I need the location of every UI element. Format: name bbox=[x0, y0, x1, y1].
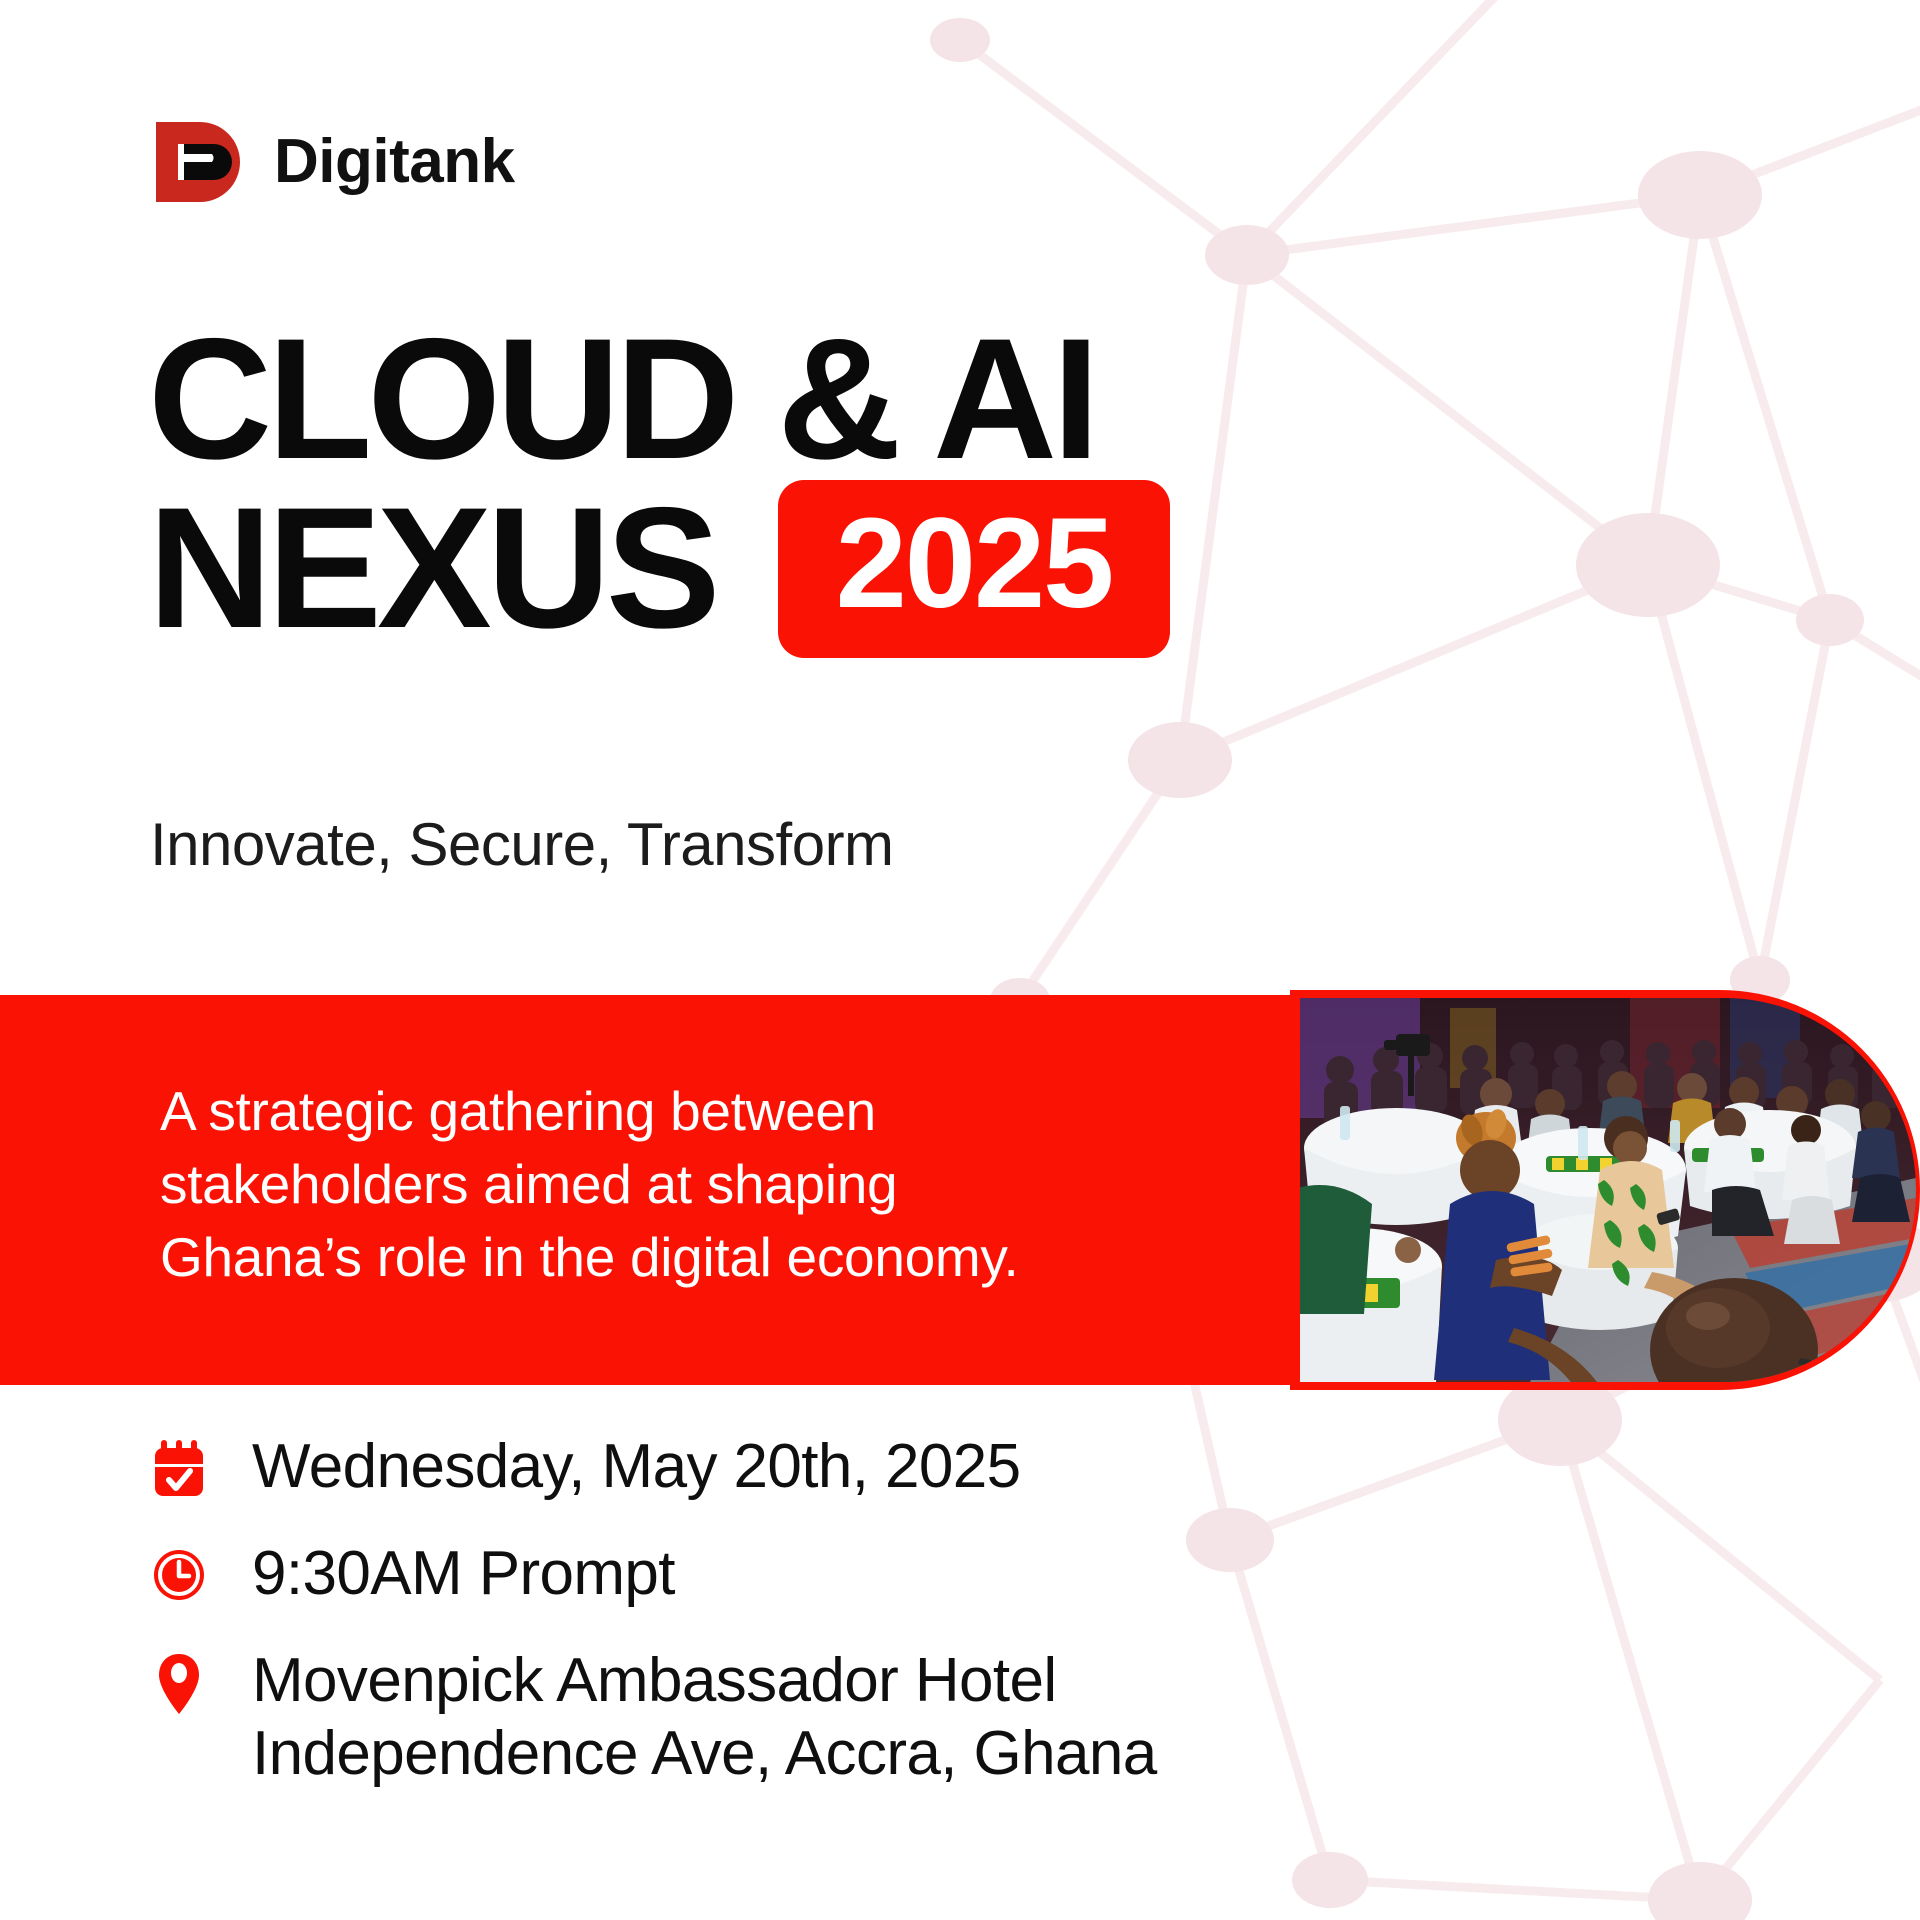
description-line-2: stakeholders aimed at shaping bbox=[160, 1148, 1280, 1221]
detail-text-venue: Movenpick Ambassador Hotel Independence … bbox=[252, 1644, 1157, 1790]
digitank-d-logo-icon bbox=[148, 110, 252, 214]
event-audience-photo-icon bbox=[1300, 998, 1916, 1382]
description-line-3: Ghana’s role in the digital economy. bbox=[160, 1221, 1280, 1294]
calendar-check-icon bbox=[150, 1430, 208, 1498]
headline-line-1: CLOUD & AI bbox=[148, 320, 1170, 480]
detail-text-time: 9:30AM Prompt bbox=[252, 1537, 675, 1610]
event-details-list: Wednesday, May 20th, 2025 9:30AM Prompt bbox=[150, 1430, 1157, 1791]
clock-icon bbox=[150, 1537, 208, 1605]
headline-line-2-row: NEXUS 2025 bbox=[148, 480, 1170, 658]
description-line-1: A strategic gathering between bbox=[160, 1075, 1280, 1148]
location-pin-icon bbox=[150, 1644, 208, 1718]
year-badge: 2025 bbox=[778, 480, 1171, 658]
venue-line-2: Independence Ave, Accra, Ghana bbox=[252, 1717, 1157, 1790]
brand-logo: Digitank bbox=[148, 110, 515, 214]
detail-row-time: 9:30AM Prompt bbox=[150, 1537, 1157, 1610]
description-text: A strategic gathering between stakeholde… bbox=[160, 1075, 1280, 1294]
event-photo bbox=[1300, 998, 1916, 1382]
venue-line-1: Movenpick Ambassador Hotel bbox=[252, 1646, 1057, 1715]
detail-text-date: Wednesday, May 20th, 2025 bbox=[252, 1430, 1021, 1503]
brand-name: Digitank bbox=[274, 131, 515, 193]
headline-block: CLOUD & AI NEXUS 2025 bbox=[148, 320, 1170, 658]
detail-row-date: Wednesday, May 20th, 2025 bbox=[150, 1430, 1157, 1503]
headline-line-2: NEXUS bbox=[148, 489, 716, 649]
tagline: Innovate, Secure, Transform bbox=[150, 810, 894, 879]
event-photo-frame bbox=[1290, 990, 1920, 1390]
detail-row-venue: Movenpick Ambassador Hotel Independence … bbox=[150, 1644, 1157, 1790]
event-poster: Digitank CLOUD & AI NEXUS 2025 Innovate,… bbox=[0, 0, 1920, 1920]
